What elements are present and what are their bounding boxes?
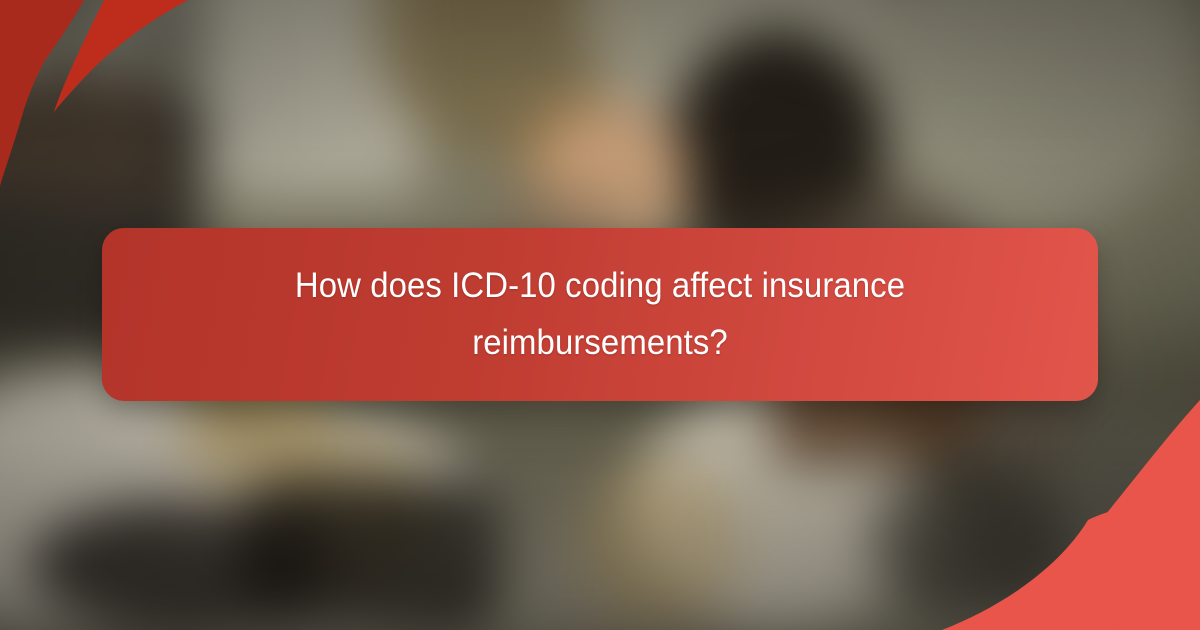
question-banner: How does ICD-10 coding affect insurance … [102, 228, 1098, 401]
question-title: How does ICD-10 coding affect insurance … [271, 258, 929, 371]
question-card: How does ICD-10 coding affect insurance … [0, 0, 1200, 630]
